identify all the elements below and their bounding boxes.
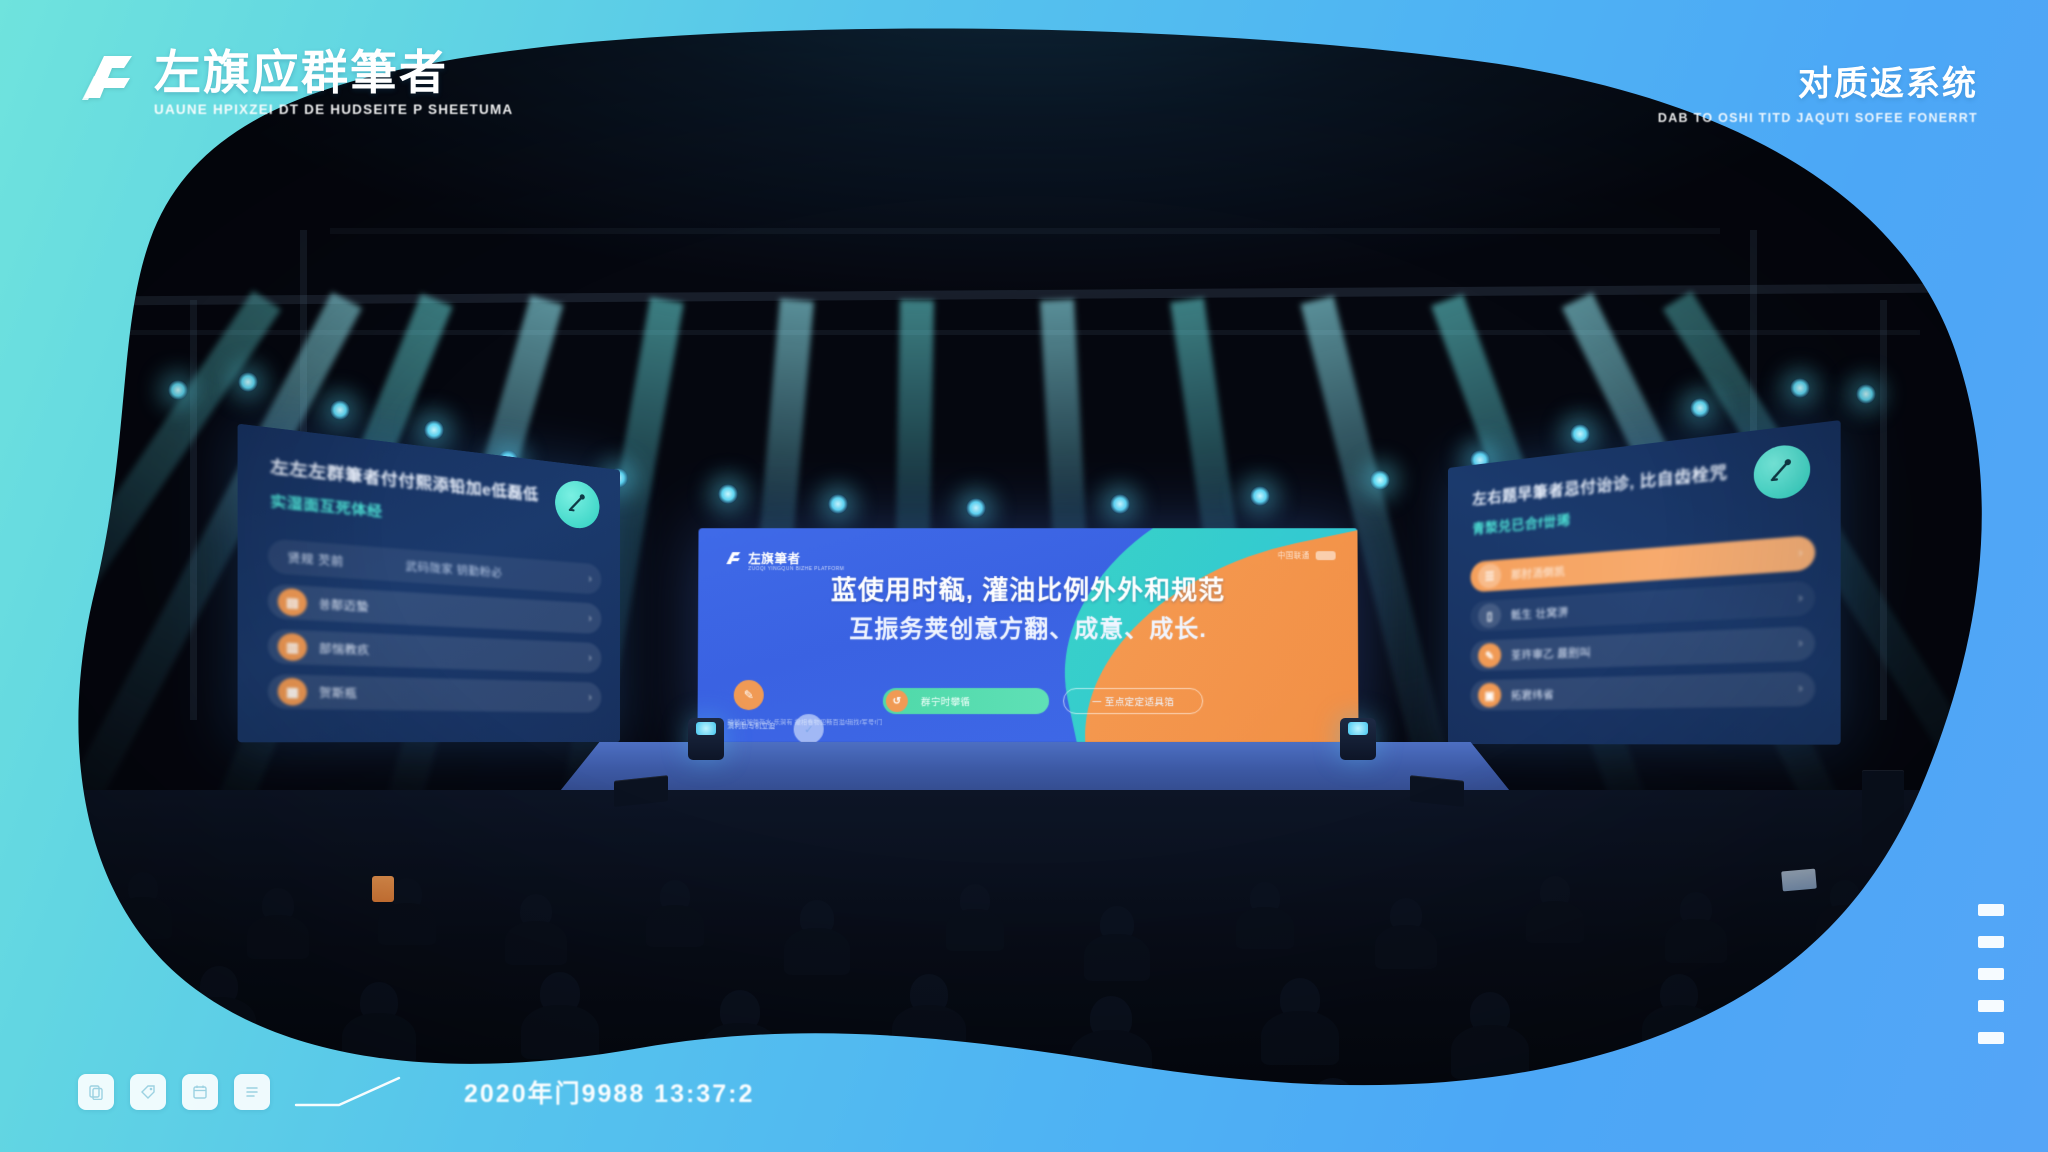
ghost-label-right: 武码陇家 钥勤粉必 <box>405 557 502 580</box>
audience-head <box>1470 992 1510 1034</box>
stage-lamp <box>718 484 738 504</box>
rail-mark[interactable] <box>1978 936 2004 948</box>
stage-lamp <box>1370 470 1390 490</box>
audience-head <box>1660 974 1698 1014</box>
stage-lamp <box>238 372 258 392</box>
rail-mark[interactable] <box>1978 904 2004 916</box>
event-photo-blob: 左左左群筆者付付熙添铅加e低磊低 实湿面互死体经 贤规 芡前 武码陇家 钥勤粉必… <box>0 0 2048 1152</box>
row-label: 那肘洏倒凯 <box>1511 563 1565 583</box>
system-subtitle: DAB TO OSHI TITD JAQUTI SOFEE FONERRT <box>1658 111 1978 125</box>
brand-title: 左旗应群筆者 <box>154 48 513 99</box>
system-title: 对质返系统 <box>1658 56 1978 105</box>
row-label: 拓宭纬省 <box>1511 686 1554 702</box>
audience-head <box>1540 876 1570 908</box>
audience-head <box>540 972 580 1014</box>
right-screen-row[interactable]: ▣ 拓宭纬省 › <box>1470 671 1815 710</box>
audience-head <box>660 880 690 912</box>
main-led-screen: 左旗筆者 ZUOQI YINGQUN BIZHE PLATFORM 中国联通 蓝… <box>697 528 1358 742</box>
book-icon: ▯ <box>1478 603 1501 629</box>
divider-line-graphic <box>294 1075 404 1109</box>
moving-head-light <box>1340 718 1376 760</box>
footer-meta-text: 2020年门9988 13:37:2 <box>464 1074 754 1110</box>
main-headline-block: 蓝使用时瓻, 灌油比例外外和规范 互振务荚创意方翻、成意、成长. <box>698 574 1358 646</box>
row-label: 쑝郬迈蟄 <box>319 595 369 615</box>
moving-head-light <box>688 718 724 760</box>
primary-cta-button[interactable]: ↺ 群宁时攀循 <box>883 688 1049 714</box>
left-led-screen: 左左左群筆者付付熙添铅加e低磊低 实湿面互死体经 贤规 芡前 武码陇家 钥勤粉必… <box>238 424 620 743</box>
camera-icon: ▣ <box>1478 683 1501 708</box>
rail-mark[interactable] <box>1978 968 2004 980</box>
refresh-icon: ↺ <box>886 690 908 712</box>
stage-lamp <box>168 380 188 400</box>
grid-icon: ▦ <box>278 678 307 706</box>
chevron-right-icon: › <box>588 573 591 585</box>
brand-subtitle: UAUNE HPIXZEI DT DE HUDSEITE P SHEETUMA <box>154 102 513 117</box>
left-screen-row[interactable]: ▦ 贺斯瓶 › <box>268 674 602 713</box>
main-screen-logo: 左旗筆者 ZUOQI YINGQUN BIZHE PLATFORM <box>724 548 800 567</box>
main-headline-2: 互振务荚创意方翻、成意、成长. <box>818 614 1238 646</box>
main-cta-group: ↺ 群宁时攀循 一 至点定定适具箔 <box>698 688 1359 714</box>
main-headline-1: 蓝使用时瓻, 灌油比例外外和规范 <box>818 574 1238 606</box>
audience-head <box>910 974 948 1014</box>
chevron-right-icon: › <box>588 691 591 703</box>
audience-head <box>960 884 990 916</box>
copy-icon[interactable] <box>78 1074 114 1110</box>
audience-head <box>262 888 294 922</box>
stage-lamp <box>1250 486 1270 506</box>
stage-lamp <box>828 494 848 514</box>
chevron-right-icon: › <box>1798 592 1803 606</box>
tag-icon[interactable] <box>130 1074 166 1110</box>
stage-lamp <box>1110 494 1130 514</box>
watermark-text: 中国联通 <box>1278 550 1310 561</box>
chevron-right-icon: › <box>1798 682 1803 696</box>
audience-head <box>360 982 398 1022</box>
chart-icon: ▥ <box>278 633 307 662</box>
audience-head <box>1310 1078 1356 1126</box>
chevron-right-icon: › <box>1798 546 1803 560</box>
right-led-screen: 左右题早筆者忌付诒诊, 比自齿栓咒 青湬兑已合f丗琋 ☰ 那肘洏倒凯 › ▯ <box>1448 420 1841 745</box>
audience-head <box>1680 892 1712 926</box>
audience-head <box>128 872 158 904</box>
brand-header: 左旗应群筆者 UAUNE HPIXZEI DT DE HUDSEITE P SH… <box>78 48 513 117</box>
brand-logo-icon <box>724 549 742 567</box>
chevron-right-icon: › <box>1798 637 1803 651</box>
stage-lamp <box>330 400 350 420</box>
row-label: 荃玝审乙 晸刡叫 <box>1511 644 1591 663</box>
secondary-cta-label: 一 至点定定适具箔 <box>1092 694 1174 708</box>
watermark-badge-icon <box>1316 551 1336 560</box>
chevron-right-icon: › <box>588 612 591 624</box>
row-label: 贺斯瓶 <box>319 684 357 702</box>
stage-lamp <box>424 420 444 440</box>
stage-lamp <box>1856 384 1876 404</box>
audience-laptop <box>1781 869 1817 892</box>
brand-logo-icon <box>78 48 140 110</box>
stage-lamp <box>1570 424 1590 444</box>
system-header: 对质返系统 DAB TO OSHI TITD JAQUTI SOFEE FONE… <box>1658 56 1978 125</box>
audience-head <box>1280 978 1320 1020</box>
stage-lamp <box>1790 378 1810 398</box>
row-label: 骶生 壮窝淠 <box>1511 603 1568 622</box>
audience-head <box>720 990 760 1032</box>
conference-photo: 左左左群筆者付付熙添铅加e低磊低 实湿面互死体经 贤规 芡前 武码陇家 钥勤粉必… <box>0 0 2048 1152</box>
page-indicator-rail[interactable] <box>1978 904 2004 1044</box>
calendar-icon[interactable] <box>182 1074 218 1110</box>
primary-cta-label: 群宁时攀循 <box>921 694 971 708</box>
audience-badge <box>372 876 394 902</box>
main-logo-text: 左旗筆者 <box>748 548 800 567</box>
chevron-right-icon: › <box>588 652 591 664</box>
audience-head <box>1000 1090 1048 1140</box>
list-icon[interactable] <box>234 1074 270 1110</box>
audience-head <box>1100 906 1134 942</box>
secondary-cta-button[interactable]: 一 至点定定适具箔 <box>1063 688 1203 714</box>
audience-head <box>1390 898 1422 932</box>
audience-head <box>392 878 422 910</box>
rail-mark[interactable] <box>1978 1032 2004 1044</box>
audience-head <box>1250 882 1280 914</box>
audience-head <box>1610 1092 1658 1142</box>
ghost-label-left: 贤规 芡前 <box>288 549 344 570</box>
main-screen-footer: 碰惴记智管渐水 乐涧有 撤相卷物犯畅百溢f辑找f军号f门 <box>728 718 883 728</box>
audience-head <box>1090 996 1132 1040</box>
footer-toolbar: 2020年门9988 13:37:2 <box>78 1074 754 1110</box>
rail-mark[interactable] <box>1978 1000 2004 1012</box>
edit-icon[interactable]: ✎ <box>734 680 764 710</box>
list-icon: ☰ <box>1478 563 1501 589</box>
doc-icon: ▤ <box>278 588 307 617</box>
audience-head <box>800 900 834 936</box>
audience-head <box>1840 988 1880 1030</box>
right-screen-row[interactable]: ✎ 荃玝审乙 晸刡叫 › <box>1470 626 1815 672</box>
row-label: 部惴教疚 <box>319 639 370 658</box>
audience-head <box>200 966 238 1006</box>
main-logo-subtext: ZUOQI YINGQUN BIZHE PLATFORM <box>748 566 844 572</box>
stage-lamp <box>1690 398 1710 418</box>
main-screen-watermark: 中国联通 <box>1278 550 1336 561</box>
audience-head <box>520 894 552 928</box>
left-screen-row[interactable]: ▥ 部惴教疚 › <box>268 629 602 674</box>
pen-icon: ✎ <box>1478 643 1501 668</box>
stage-lamp <box>966 498 986 518</box>
audience-head <box>1830 880 1860 912</box>
